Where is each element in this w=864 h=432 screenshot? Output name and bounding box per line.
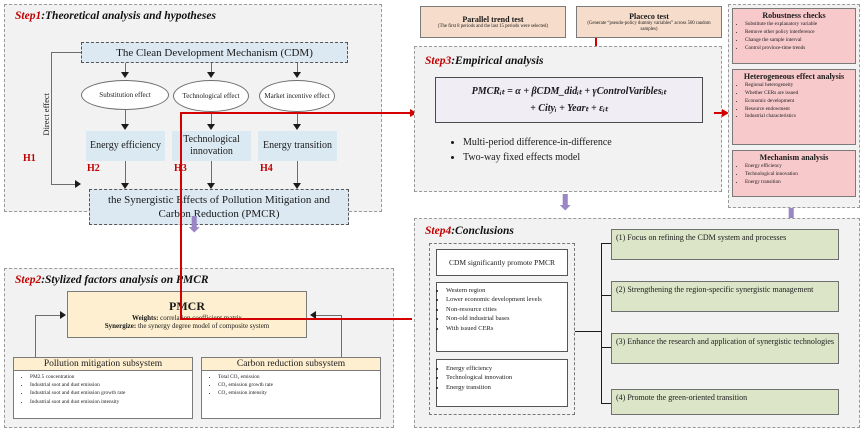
mechanism-analysis-header: Mechanism analysis — [736, 153, 852, 162]
channel1-to-outcome-line — [125, 161, 126, 185]
list-item: Industrial soot and dust emission growth… — [30, 389, 192, 397]
conclusion-group-b-list: Energy efficiency Technological innovati… — [437, 364, 567, 392]
parallel-trend-test-title: Parallel trend test — [462, 15, 523, 24]
cdm-root-label: The Clean Development Mechanism (CDM) — [116, 47, 313, 59]
channel-energy-efficiency: Energy efficiency — [86, 131, 165, 161]
recommendations-bracket-spine — [601, 243, 602, 403]
placebo-test-subtitle: (Generate “pseudo-policy dummy variables… — [579, 21, 719, 33]
pollution-mitigation-subsystem-header: Pollution mitigation subsystem — [14, 358, 192, 371]
subsystem-left-arrowhead — [60, 311, 66, 319]
step3-title-text: :Empirical analysis — [451, 55, 543, 67]
parallel-trend-test-box: Parallel trend test (The first 8 periods… — [420, 6, 566, 38]
list-item: Control province-time trends — [745, 45, 852, 53]
cdm-to-ellipse3-arrow — [293, 72, 301, 78]
subsystem-left-connector-vertical — [35, 315, 36, 357]
ellipse1-to-channel1-arrow — [121, 124, 129, 130]
ellipse3-to-channel3-arrow — [293, 124, 301, 130]
step1-title-number: Step1 — [15, 10, 41, 22]
direct-effect-arrowhead — [75, 180, 81, 188]
direct-effect-line-vertical — [51, 52, 52, 184]
list-item: Technological innovation — [745, 171, 852, 179]
step3-bullet-list: Multi-period difference-in-difference Tw… — [441, 135, 612, 165]
recommendation-1-label: (1) Focus on refining the CDM system and… — [616, 233, 786, 242]
list-item: Substitute the explanatory variable — [745, 21, 852, 29]
step4-conclusions-group: CDM significantly promote PMCR Western r… — [429, 243, 575, 415]
direct-effect-label: Direct effect — [41, 93, 51, 136]
list-item: Energy transition — [446, 383, 567, 392]
direct-effect-line-top — [51, 52, 81, 53]
step3-to-step4-arrow-icon: ⬇ — [556, 192, 574, 214]
list-item: CO₂ emission intensity — [218, 389, 380, 397]
list-item: With issued CERs — [446, 324, 567, 333]
step2-to-step3-flow-vertical — [180, 112, 182, 320]
channel2-to-outcome-line — [211, 161, 212, 185]
empirical-equation-box: PMCRᵢₜ = α + βCDM_didᵢₜ + γControlVaribl… — [435, 77, 703, 123]
channel-energy-transition-label: Energy transition — [263, 140, 332, 153]
ellipse-technological-effect: Technological effect — [173, 80, 249, 112]
placebo-test-box: Placeco test (Generate “pseudo-policy du… — [576, 6, 722, 38]
robustness-checks-list: Substitute the explanatory variable Remo… — [736, 21, 852, 52]
list-item: Non-old industrial bases — [446, 314, 567, 323]
direct-effect-line-bottom — [51, 184, 75, 185]
pmcr-definition-box: PMCR Weights: correlation coefficient ma… — [67, 291, 307, 338]
step2-to-step3-flow-horizontal-bottom — [180, 318, 412, 320]
pmcr-outcome-box: the Synergistic Effects of Pollution Mit… — [89, 189, 349, 225]
ellipse-market-incentive-effect-label: Market incentive effect — [264, 92, 329, 100]
ellipse-substitution-effect-label: Substitution effect — [99, 91, 150, 99]
step4-title-text: :Conclusions — [451, 225, 514, 237]
pmcr-synergize-label: Synergize: — [105, 322, 137, 330]
channel-technological-innovation: Technological innovation — [172, 131, 251, 161]
carbon-reduction-subsystem-list: Total CO₂ emission CO₂ emission growth r… — [202, 373, 380, 398]
cdm-to-ellipse1-arrow — [121, 72, 129, 78]
recommendation-3-label: (3) Enhance the research and application… — [616, 337, 834, 346]
step1-panel: Step1:Theoretical analysis and hypothese… — [4, 4, 382, 212]
list-item: Industrial soot and dust emission — [30, 381, 192, 389]
recommendation-box-2: (2) Strengthening the region-specific sy… — [611, 281, 839, 312]
pmcr-synergize-text: the synergy degree model of composite sy… — [136, 322, 269, 330]
step4-panel: Step4:Conclusions CDM significantly prom… — [414, 218, 860, 428]
heterogeneous-effect-analysis-list: Regional heterogeneity Whether CERs are … — [736, 82, 852, 121]
empirical-equation-line1: PMCRᵢₜ = α + βCDM_didᵢₜ + γControlVaribl… — [472, 83, 667, 100]
channel-energy-efficiency-label: Energy efficiency — [90, 140, 161, 153]
list-item: Industrial soot and dust emission intens… — [30, 398, 192, 406]
list-item: Energy efficiency — [446, 364, 567, 373]
heterogeneous-effect-analysis-header: Heterogeneous effect analysis — [736, 72, 852, 81]
step2-title-text: :Stylized factors analysis on PMCR — [41, 274, 208, 286]
step4-title: Step4:Conclusions — [425, 225, 514, 237]
list-item: Energy efficiency — [745, 163, 852, 171]
list-item: CO₂ emission growth rate — [218, 381, 380, 389]
recommendation-box-3: (3) Enhance the research and application… — [611, 333, 839, 364]
step2-title-number: Step2 — [15, 274, 41, 286]
recommendation-4-label: (4) Promote the green-oriented transitio… — [616, 393, 747, 402]
step1-title-text: :Theoretical analysis and hypotheses — [41, 10, 216, 22]
list-item: Regional heterogeneity — [745, 82, 852, 90]
recommendation-box-1: (1) Focus on refining the CDM system and… — [611, 229, 839, 260]
carbon-reduction-subsystem: Carbon reduction subsystem Total CO₂ emi… — [201, 357, 381, 419]
step3-panel: Step3:Empirical analysis PMCRᵢₜ = α + βC… — [414, 46, 722, 192]
recommendations-bracket-branch-3 — [601, 347, 611, 348]
subsystem-left-connector-horizontal — [35, 315, 61, 316]
step2-panel: Step2:Stylized factors analysis on PMCR … — [4, 268, 394, 428]
channel3-to-outcome-line — [297, 161, 298, 185]
step1-to-step2-arrow-icon: ⬇ — [185, 214, 203, 236]
recommendations-bracket-stem — [575, 331, 601, 332]
placebo-test-title: Placeco test — [629, 12, 669, 21]
robustness-checks-box: Robustness checks Substitute the explana… — [732, 8, 856, 64]
channel-technological-innovation-label: Technological innovation — [172, 134, 251, 159]
main-finding-box: CDM significantly promote PMCR — [436, 249, 568, 276]
cdm-to-ellipse2-arrow — [207, 72, 215, 78]
list-item: PM2.5 concentration — [30, 373, 192, 381]
parallel-trend-test-subtitle: (The first 8 periods and the last 15 per… — [438, 24, 548, 30]
pmcr-synergize-row: Synergize: the synergy degree model of c… — [105, 322, 270, 330]
list-item: Multi-period difference-in-difference — [463, 135, 612, 150]
conclusion-group-a-list: Western region Lower economic developmen… — [437, 286, 567, 333]
recommendation-2-label: (2) Strengthening the region-specific sy… — [616, 285, 813, 294]
hypothesis-h1-label: H1 — [23, 153, 36, 164]
pollution-mitigation-subsystem-list: PM2.5 concentration Industrial soot and … — [14, 373, 192, 406]
carbon-reduction-subsystem-header: Carbon reduction subsystem — [202, 358, 380, 371]
hypothesis-h4-label: H4 — [260, 163, 273, 174]
recommendation-box-4: (4) Promote the green-oriented transitio… — [611, 389, 839, 415]
subsystem-right-connector-horizontal — [315, 315, 341, 316]
list-item: Whether CERs are issued — [745, 90, 852, 98]
ellipse-substitution-effect: Substitution effect — [81, 80, 169, 110]
subsystem-right-connector-vertical — [341, 315, 342, 357]
list-item: Western region — [446, 286, 567, 295]
heterogeneous-effect-analysis-box: Heterogeneous effect analysis Regional h… — [732, 69, 856, 145]
robustness-checks-header: Robustness checks — [736, 11, 852, 20]
hypothesis-h2-label: H2 — [87, 163, 100, 174]
list-item: Two-way fixed effects model — [463, 150, 612, 165]
cdm-root-box: The Clean Development Mechanism (CDM) — [81, 42, 348, 63]
list-item: Non-resource cities — [446, 305, 567, 314]
list-item: Energy transition — [745, 179, 852, 187]
mechanism-analysis-box: Mechanism analysis Energy efficiency Tec… — [732, 150, 856, 197]
pmcr-weights-label: Weights: — [132, 314, 158, 322]
pollution-mitigation-subsystem: Pollution mitigation subsystem PM2.5 con… — [13, 357, 193, 419]
list-item: Economic development — [745, 98, 852, 106]
recommendations-bracket-branch-1 — [601, 243, 611, 244]
list-item: Technological innovation — [446, 373, 567, 382]
ellipse-technological-effect-label: Technological effect — [182, 92, 239, 100]
list-item: Change the sample interval — [745, 37, 852, 45]
step2-to-step3-flow-horizontal-top — [180, 112, 412, 114]
step3-title-number: Step3 — [425, 55, 451, 67]
channel-energy-transition: Energy transition — [258, 131, 337, 161]
recommendations-bracket-branch-2 — [601, 295, 611, 296]
conclusion-group-b-box: Energy efficiency Technological innovati… — [436, 359, 568, 407]
step1-title: Step1:Theoretical analysis and hypothese… — [15, 10, 216, 22]
conclusion-group-a-box: Western region Lower economic developmen… — [436, 282, 568, 352]
ellipse2-to-channel2-arrow — [207, 124, 215, 130]
recommendations-bracket-branch-4 — [601, 403, 611, 404]
step4-title-number: Step4 — [425, 225, 451, 237]
list-item: Industrial characteristics — [745, 113, 852, 121]
ellipse-market-incentive-effect: Market incentive effect — [259, 80, 335, 112]
list-item: Resource endowment — [745, 106, 852, 114]
mechanism-analysis-list: Energy efficiency Technological innovati… — [736, 163, 852, 186]
empirical-equation-line2: + Cityᵢ + Yearₜ + εᵢₜ — [530, 100, 608, 117]
list-item: Total CO₂ emission — [218, 373, 380, 381]
step3-title: Step3:Empirical analysis — [425, 55, 544, 67]
pmcr-outcome-label: the Synergistic Effects of Pollution Mit… — [94, 193, 344, 222]
pmcr-definition-title: PMCR — [169, 299, 205, 314]
list-item: Remove other policy interference — [745, 29, 852, 37]
right-results-panel: Robustness checks Substitute the explana… — [728, 4, 860, 208]
list-item: Lower economic development levels — [446, 295, 567, 304]
main-finding-label: CDM significantly promote PMCR — [449, 258, 555, 267]
step3-to-right-panels-line — [714, 112, 726, 114]
